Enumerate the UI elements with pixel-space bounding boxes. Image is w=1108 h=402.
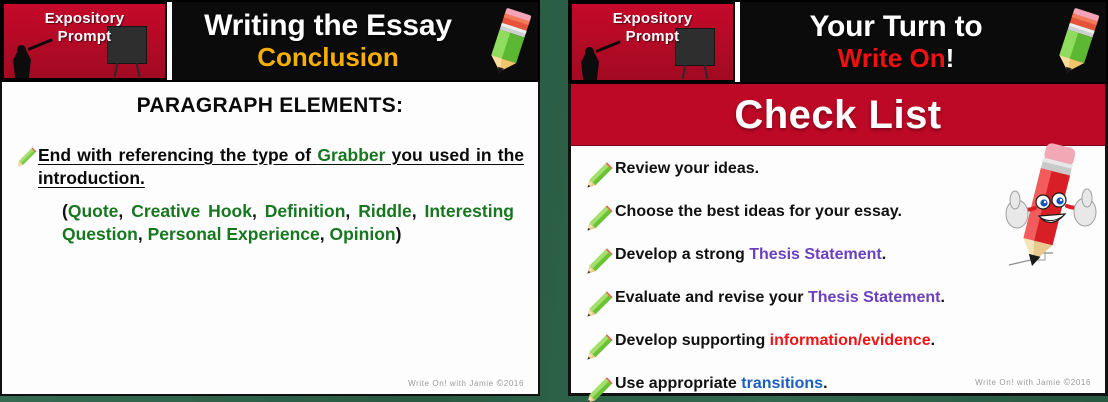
logo-line-2: Prompt [4,28,165,46]
blackboard-leg-left [114,63,119,77]
left-title-line-1: Writing the Essay [204,10,452,42]
grabber-highlight: Grabber [317,145,385,165]
grabber-type-separator: , [138,224,148,244]
checklist-accent-term: Thesis Statement [749,246,881,263]
green-pencil-icon [477,5,540,82]
grabber-type-item: Riddle [358,201,411,221]
expository-prompt-logo: Expository Prompt [2,2,167,80]
grabber-type-separator: , [412,201,425,221]
check-list-items: Review your ideas.Choose the best ideas … [571,146,1105,402]
right-header-title-block: Your Turn to Write On! [740,2,1106,82]
left-watermark-year: 2016 [504,379,524,388]
checklist-text-post: . [882,246,886,263]
lead-text-part-1: End with referencing the type of [38,145,317,165]
checklist-text-post: . [823,375,827,392]
grabber-items-container: Quote, Creative Hook, Definition, Riddle… [62,201,514,244]
check-list-banner: Check List [571,84,1105,146]
checklist-text-post: . [931,332,935,349]
list-close-paren: ) [396,224,402,244]
left-watermark: Write On! with Jamie ©2016 [408,378,524,388]
grabber-type-list: (Quote, Creative Hook, Definition, Riddl… [62,200,514,246]
right-watermark-copyright: © [1064,377,1071,387]
checklist-item-text: Review your ideas. [615,159,759,179]
grabber-type-separator: , [345,201,358,221]
logo-line-1-right: Expository [613,10,693,27]
grabber-type-separator: , [252,201,265,221]
right-watermark-year: 2016 [1071,378,1091,387]
checklist-text-pre: Review your ideas. [615,160,759,177]
blackboard-leg-left-right [682,65,687,79]
right-title-line-2: Write On! [838,43,955,73]
mini-green-pencil-bullet-icon [16,146,38,168]
checklist-item-text: Use appropriate transitions. [615,374,828,394]
teacher-silhouette-body-icon [13,50,31,78]
expository-prompt-logo-right: Expository Prompt [570,2,735,82]
checklist-text-pre: Evaluate and revise your [615,289,808,306]
slide-writing-the-essay-conclusion: Expository Prompt Writing the Essay Conc… [0,0,540,396]
checklist-accent-term: transitions [741,375,823,392]
checklist-text-pre: Develop supporting [615,332,770,349]
logo-line-2-right: Prompt [572,28,733,46]
green-pencil-icon-right [1045,5,1108,82]
grabber-type-item: Personal Experience [148,224,320,244]
write-on-exclamation: ! [946,43,955,73]
left-slide-body: PARAGRAPH ELEMENTS: End with referencing… [0,82,540,396]
right-slide-body: Check List Review your ideas.Choose the … [568,84,1108,396]
left-watermark-copyright: © [497,378,504,388]
grabber-type-item: Opinion [329,224,395,244]
right-slide-header: Expository Prompt Your Turn to Write On! [568,0,1108,84]
checklist-item-text: Evaluate and revise your Thesis Statemen… [615,288,945,308]
checklist-accent-term: Thesis Statement [808,289,940,306]
left-slide-header: Expository Prompt Writing the Essay Conc… [0,0,540,82]
mini-green-pencil-bullet-icon [585,246,615,276]
blackboard-leg-right-right [704,65,709,79]
right-title-line-1: Your Turn to [809,11,982,43]
teacher-silhouette-body-icon-right [581,52,599,80]
checklist-text-pre: Develop a strong [615,246,749,263]
slide-pair-stage: Expository Prompt Writing the Essay Conc… [0,0,1108,402]
checklist-accent-term: information/evidence [770,332,931,349]
mini-green-pencil-bullet-icon [585,332,615,362]
checklist-item-text: Develop a strong Thesis Statement. [615,245,886,265]
checklist-text-post: . [940,289,944,306]
right-watermark: Write On! with Jamie ©2016 [975,377,1091,387]
paragraph-elements-heading: PARAGRAPH ELEMENTS: [16,94,524,118]
write-on-red-text: Write On [838,43,946,73]
checklist-text-pre: Use appropriate [615,375,741,392]
logo-line-1: Expository [45,10,125,27]
grabber-type-item: Quote [68,201,119,221]
mini-green-pencil-bullet-icon [585,203,615,233]
left-watermark-text: Write On! with Jamie [408,379,496,388]
mini-green-pencil-bullet-icon [585,375,615,402]
grabber-type-separator: , [118,201,131,221]
mini-green-pencil-bullet-icon [585,160,615,190]
checklist-item[interactable]: Develop supporting information/evidence. [585,331,1095,362]
checklist-item-text: Choose the best ideas for your essay. [615,202,902,222]
left-header-title-block: Writing the Essay Conclusion [172,2,538,80]
expository-prompt-logo-text-right: Expository Prompt [572,10,733,46]
lead-bullet-row: End with referencing the type of Grabber… [16,144,524,190]
right-watermark-text: Write On! with Jamie [975,378,1063,387]
smiling-pencil-mascot-icon [995,140,1099,280]
grabber-type-item: Creative Hook [131,201,252,221]
blackboard-leg-right [136,63,141,77]
slide-your-turn-to-write-on: Expository Prompt Your Turn to Write On! [568,0,1108,396]
checklist-item[interactable]: Evaluate and revise your Thesis Statemen… [585,288,1095,319]
left-title-line-2: Conclusion [257,42,399,72]
checklist-item-text: Develop supporting information/evidence. [615,331,935,351]
expository-prompt-logo-text: Expository Prompt [4,10,165,46]
mini-green-pencil-bullet-icon [585,289,615,319]
lead-bullet-text: End with referencing the type of Grabber… [38,144,524,190]
checklist-text-pre: Choose the best ideas for your essay. [615,203,902,220]
check-list-title: Check List [734,94,941,136]
grabber-type-item: Definition [265,201,346,221]
